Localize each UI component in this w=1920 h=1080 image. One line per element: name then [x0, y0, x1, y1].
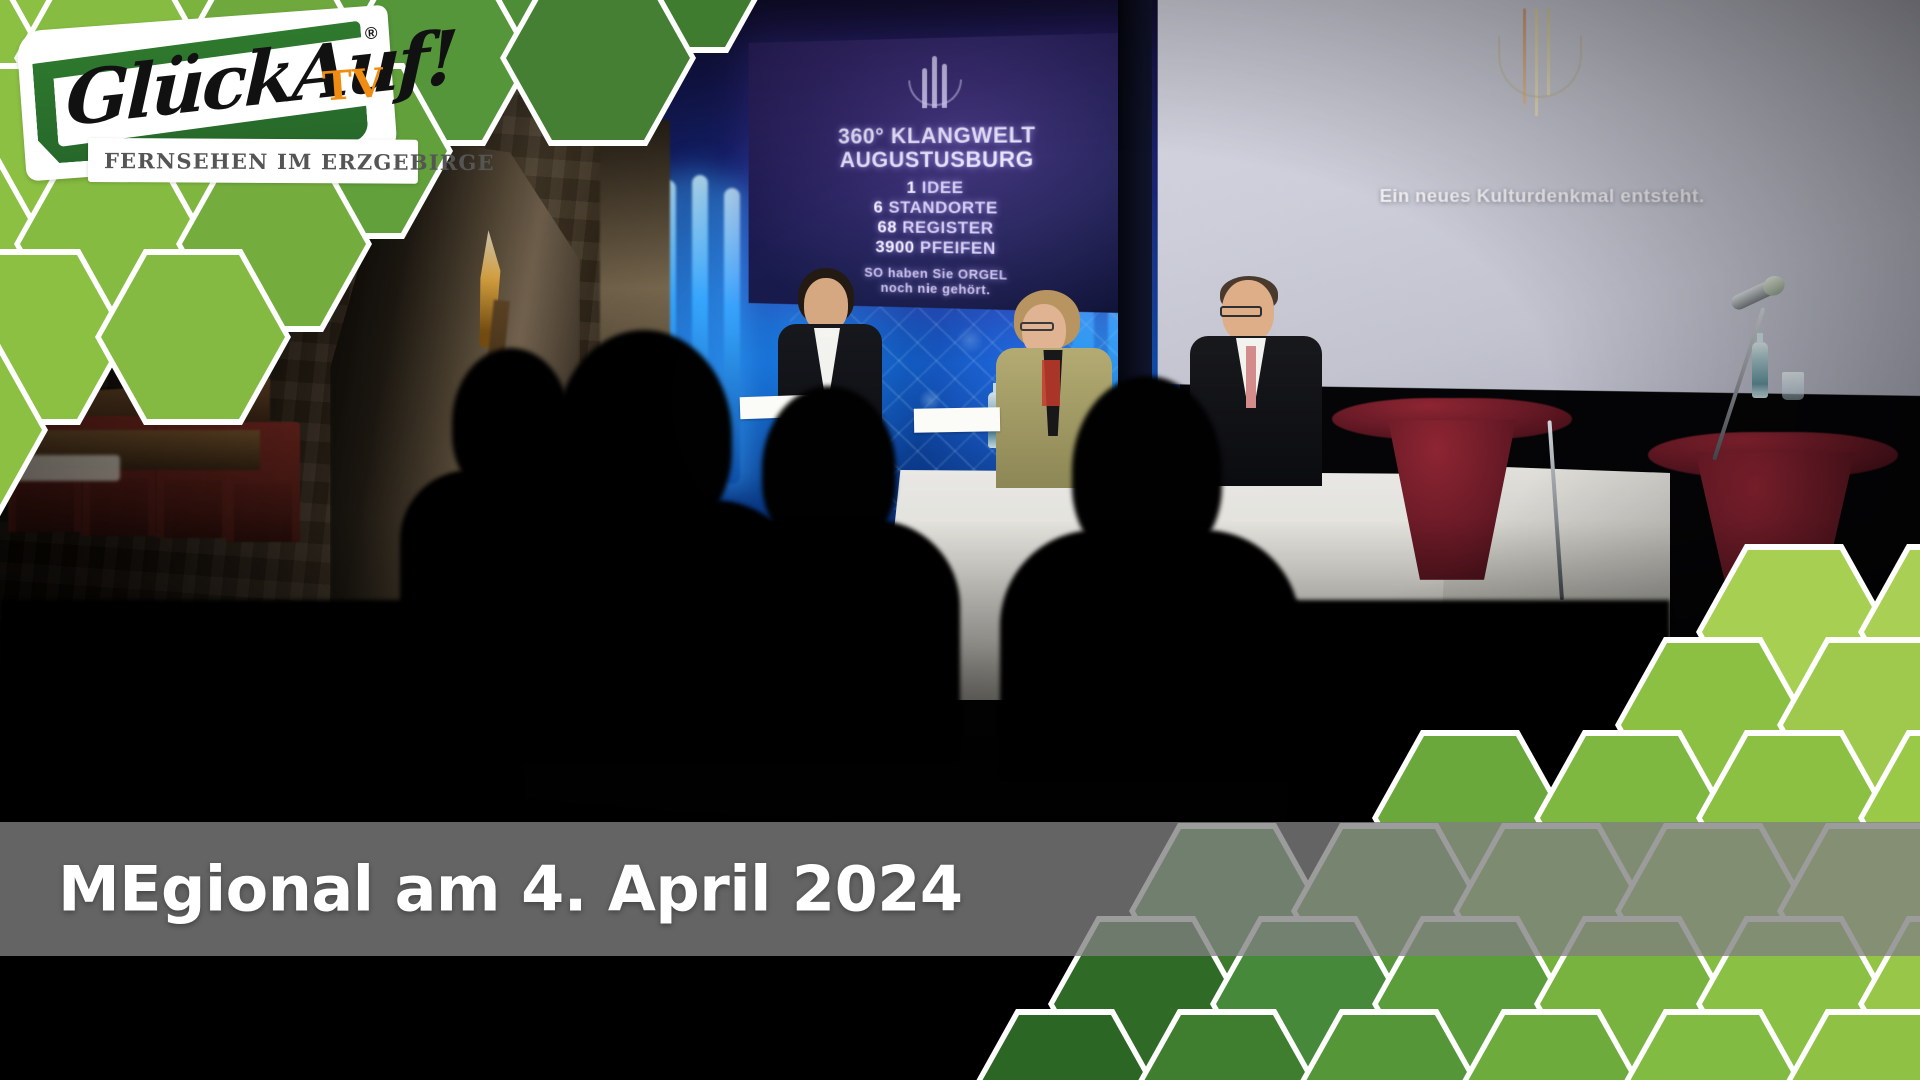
page-title: MEgional am 4. April 2024 — [58, 853, 962, 926]
hexagon — [973, 1015, 1157, 1080]
hexagon — [1621, 1015, 1805, 1080]
hexagon — [1459, 1015, 1643, 1080]
logo-tv-text: TV — [321, 59, 385, 110]
logo-tagline-plate: FERNSEHEN IM ERZGEBIRGE — [88, 138, 418, 184]
glueckauf-tv-logo[interactable]: GlückAuf! TV ® FERNSEHEN IM ERZGEBIRGE — [16, 5, 400, 212]
hexagon — [1135, 1015, 1319, 1080]
screenshot-root: 360° KLANGWELT AUGUSTUSBURG 1 IDEE 6 STA… — [0, 0, 1920, 1080]
logo-tagline: FERNSEHEN IM ERZGEBIRGE — [104, 148, 495, 175]
hexagon — [1297, 1015, 1481, 1080]
hexagon — [1783, 1015, 1920, 1080]
title-bar: MEgional am 4. April 2024 — [0, 822, 1920, 956]
registered-trademark-icon: ® — [364, 23, 378, 44]
